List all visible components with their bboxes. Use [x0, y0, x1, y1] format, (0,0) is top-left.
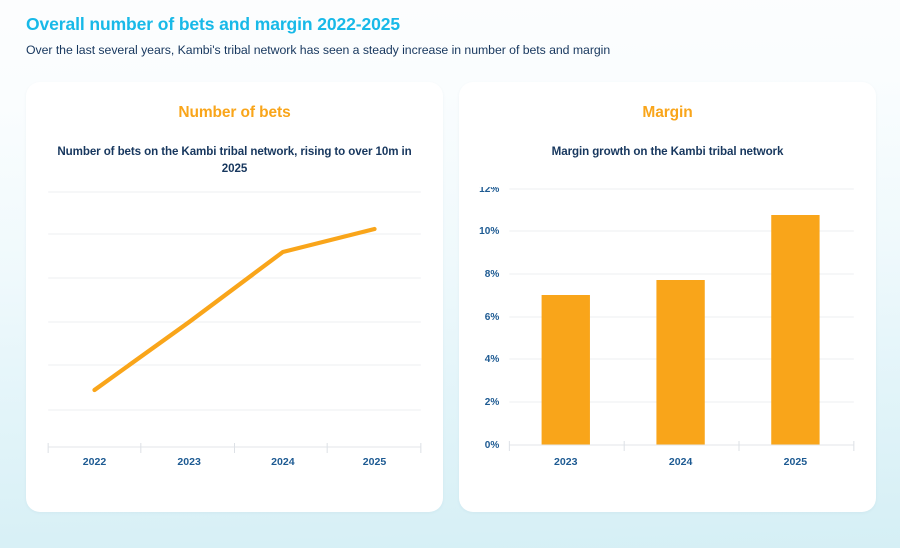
- bar-chart-svg: 12% 10% 8% 6% 4% 2% 0%: [459, 187, 876, 512]
- y-tick-label-4pct: 4%: [485, 354, 500, 365]
- line-chart-number-of-bets: 2022 2023 2024 2025: [26, 187, 443, 512]
- card-subtitle-margin: Margin growth on the Kambi tribal networ…: [459, 144, 876, 161]
- x-tick-label-2025: 2025: [363, 456, 387, 468]
- x-tick-label-2025: 2025: [784, 456, 808, 468]
- y-tick-label-10pct: 10%: [479, 226, 499, 237]
- x-tick-label-2024: 2024: [271, 456, 295, 468]
- x-tick-label-2023: 2023: [554, 456, 578, 468]
- bar-chart-margin: 12% 10% 8% 6% 4% 2% 0%: [459, 187, 876, 512]
- y-tick-label-12pct: 12%: [479, 187, 499, 195]
- line-chart-svg: 2022 2023 2024 2025: [26, 187, 443, 512]
- card-subtitle-number-of-bets: Number of bets on the Kambi tribal netwo…: [26, 144, 443, 178]
- page-header: Overall number of bets and margin 2022-2…: [0, 0, 900, 57]
- card-title-number-of-bets: Number of bets: [26, 82, 443, 122]
- bar-2024: [656, 280, 704, 445]
- x-tick-label-2024: 2024: [669, 456, 693, 468]
- y-tick-label-0pct: 0%: [485, 440, 500, 451]
- bar-2023: [542, 295, 590, 445]
- page-title: Overall number of bets and margin 2022-2…: [26, 14, 900, 36]
- page-subtitle: Over the last several years, Kambi's tri…: [26, 43, 900, 57]
- x-tick-label-2022: 2022: [83, 456, 107, 468]
- gridlines-group: [48, 192, 421, 410]
- card-number-of-bets: Number of bets Number of bets on the Kam…: [26, 82, 443, 512]
- y-tick-label-2pct: 2%: [485, 397, 500, 408]
- y-tick-label-6pct: 6%: [485, 312, 500, 323]
- bar-2025: [771, 215, 819, 445]
- x-tick-labels-group: 2023 2024 2025: [554, 456, 807, 468]
- bars-group: [542, 215, 820, 445]
- card-margin: Margin Margin growth on the Kambi tribal…: [459, 82, 876, 512]
- bets-line-series: [94, 229, 374, 390]
- y-tick-labels-group: 12% 10% 8% 6% 4% 2% 0%: [479, 187, 499, 451]
- x-tick-label-2023: 2023: [177, 456, 201, 468]
- x-tick-labels-group: 2022 2023 2024 2025: [83, 456, 387, 468]
- card-title-margin: Margin: [459, 82, 876, 122]
- charts-row: Number of bets Number of bets on the Kam…: [0, 57, 900, 512]
- x-axis-group: [48, 443, 421, 453]
- y-tick-label-8pct: 8%: [485, 269, 500, 280]
